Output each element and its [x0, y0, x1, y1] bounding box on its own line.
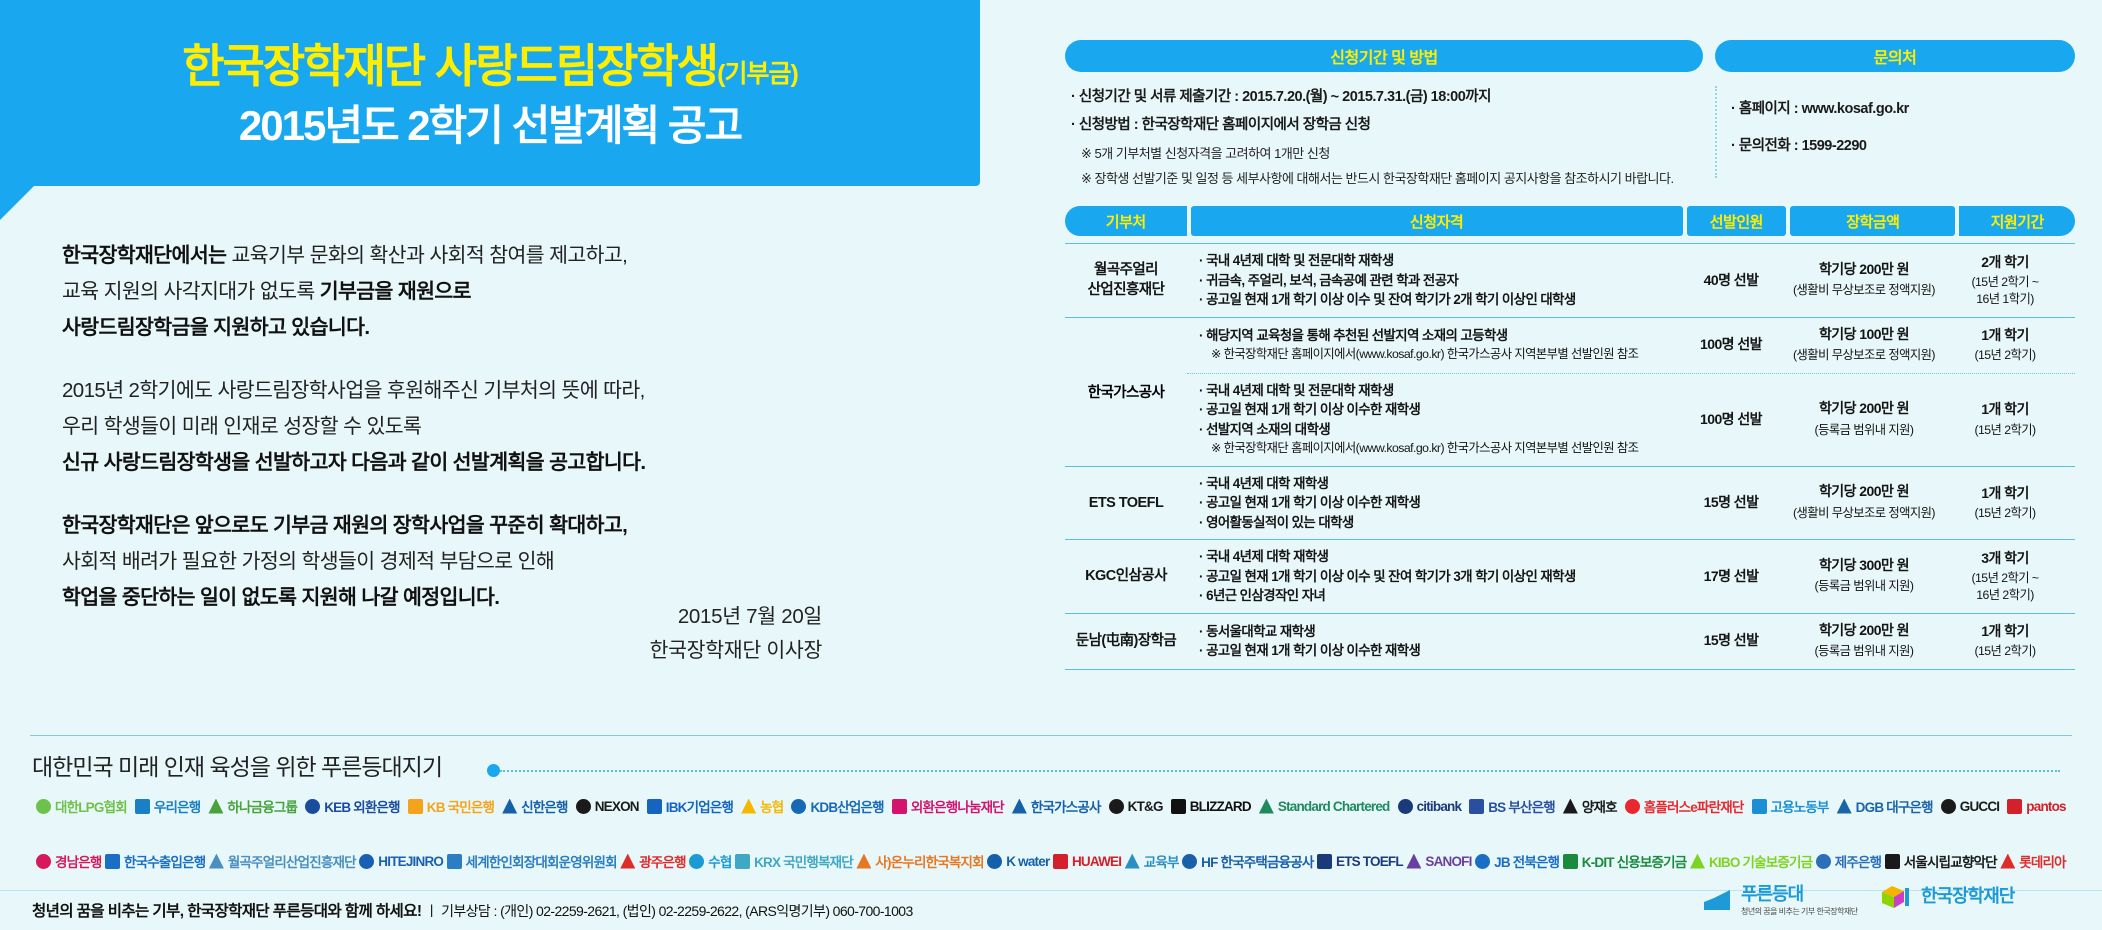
cell-period: 1개 학기 (15년 2학기) — [1947, 477, 2063, 530]
contact-info-box: 문의처 · 홈페이지 : www.kosaf.go.kr · 문의전화 : 15… — [1715, 40, 2075, 192]
cell-period: 1개 학기 (15년 2학기) — [1947, 393, 2063, 446]
intro-p1-lead: 한국장학재단에서는 — [62, 244, 231, 267]
cell-amount: 학기당 200만 원 (생활비 무상보조로 정액지원) — [1781, 253, 1947, 308]
sponsor-logo: KEB 외환은행 — [305, 796, 400, 816]
qual-note: ※ 한국장학재단 홈페이지에서(www.kosaf.go.kr) 한국가스공사 … — [1199, 345, 1681, 365]
cell-count: 100명 선발 — [1681, 403, 1781, 437]
sponsor-name: 사)온누리한국복지회 — [875, 851, 983, 871]
sponsor-name: 광주은행 — [639, 851, 685, 871]
poster-root: 한국장학재단 사랑드림장학생(기부금) 2015년도 2학기 선발계획 공고 한… — [0, 0, 2102, 930]
sponsor-name: 교육부 — [1144, 851, 1179, 871]
amount-note: (등록금 범위내 지원) — [1781, 577, 1947, 597]
sponsor-mark-icon — [1398, 799, 1413, 814]
sponsor-logo: K water — [987, 854, 1049, 869]
cell-period: 1개 학기 (15년 2학기) — [1947, 615, 2063, 668]
sponsor-name: KB 국민은행 — [427, 796, 494, 816]
sponsor-name: 우리은행 — [154, 796, 200, 816]
sponsor-mark-icon — [1752, 799, 1767, 814]
sponsor-logo: BLIZZARD — [1171, 799, 1251, 814]
qual-note: ※ 한국장학재단 홈페이지에서(www.kosaf.go.kr) 한국가스공사 … — [1199, 439, 1681, 459]
sponsor-name: 서울시립교향악단 — [1904, 851, 1997, 871]
sponsor-logo: citibank — [1398, 799, 1462, 814]
sponsor-logo: BS 부산은행 — [1469, 796, 1555, 816]
amount-note: (생활비 무상보조로 정액지원) — [1781, 504, 1947, 524]
sponsor-mark-icon — [647, 799, 662, 814]
apply-info-box: 신청기간 및 방법 · 신청기간 및 서류 제출기간 : 2015.7.20.(… — [1065, 40, 1703, 192]
sponsor-mark-icon — [359, 854, 374, 869]
amount-value: 학기당 200만 원 — [1819, 400, 1909, 416]
sponsor-name: 고용노동부 — [1771, 796, 1829, 816]
sponsor-logo: 한국가스공사 — [1012, 796, 1101, 816]
sponsor-name: KDB산업은행 — [810, 796, 883, 816]
intro-paragraph-1: 한국장학재단에서는 교육기부 문화의 확산과 사회적 참여를 제고하고, 교육 … — [62, 238, 822, 346]
brand-pureundae-sub: 청년의 꿈을 비추는 기부 한국장학재단 — [1741, 906, 1858, 917]
period-value: 1개 학기 — [1981, 401, 2029, 417]
sponsor-mark-icon — [1259, 799, 1274, 814]
intro-text-block: 한국장학재단에서는 교육기부 문화의 확산과 사회적 참여를 제고하고, 교육 … — [62, 238, 822, 616]
qual-item: · 동서울대학교 재학생 — [1199, 622, 1681, 642]
sponsor-mark-icon — [735, 854, 750, 869]
sponsor-logo: 월곡주얼리산업진흥재단 — [209, 851, 356, 871]
sponsor-logo: HF 한국주택금융공사 — [1182, 851, 1313, 871]
sponsor-logo: HITEJINRO — [359, 854, 443, 869]
footer-separator: ㅣ — [425, 903, 437, 919]
amount-note: (등록금 범위내 지원) — [1781, 421, 1947, 441]
table-row-group: 한국가스공사 · 해당지역 교육청을 통해 추천된 선발지역 소재의 고등학생 … — [1065, 318, 2075, 467]
qual-item: · 해당지역 교육청을 통해 추천된 선발지역 소재의 고등학생 — [1199, 326, 1681, 346]
sponsor-mark-icon — [447, 854, 462, 869]
sponsor-name: 대한LPG협회 — [55, 796, 127, 816]
sponsor-logo: K-DIT 신용보증기금 — [1563, 851, 1687, 871]
table-header-row: 기부처 신청자격 선발인원 장학금액 지원기간 — [1065, 206, 2075, 236]
table-body: 월곡주얼리산업진흥재단 · 국내 4년제 대학 및 전문대학 재학생 · 귀금속… — [1065, 243, 2075, 670]
sponsor-name: BS 부산은행 — [1488, 796, 1555, 816]
table-row: · 국내 4년제 대학 및 전문대학 재학생 · 공고일 현재 1개 학기 이상… — [1187, 374, 2075, 466]
sponsor-logo: NEXON — [576, 799, 639, 814]
contact-homepage[interactable]: · 홈페이지 : www.kosaf.go.kr — [1731, 98, 2069, 121]
cell-amount: 학기당 200만 원 (생활비 무상보조로 정액지원) — [1781, 475, 1947, 530]
sponsor-mark-icon — [1625, 799, 1640, 814]
sponsor-name: 한국가스공사 — [1031, 796, 1101, 816]
sponsor-name: 한국수출입은행 — [124, 851, 205, 871]
banner-title-main: 한국장학재단 사랑드림장학생(기부금) — [0, 30, 980, 96]
sponsor-mark-icon — [576, 799, 591, 814]
sponsor-mark-icon — [36, 854, 51, 869]
sponsor-mark-icon — [741, 799, 756, 814]
contact-info-body: · 홈페이지 : www.kosaf.go.kr · 문의전화 : 1599-2… — [1715, 72, 2075, 158]
brand-pureundae-label: 푸른등대 — [1741, 880, 1858, 906]
period-note: (15년 2학기) — [1947, 422, 2063, 439]
sponsor-name: DGB 대구은행 — [1856, 796, 1933, 816]
apply-line-1: · 신청방법 : 한국장학재단 홈페이지에서 장학금 신청 — [1071, 114, 1697, 137]
cell-amount: 학기당 300만 원 (등록금 범위내 지원) — [1781, 549, 1947, 604]
qual-item: · 선발지역 소재의 대학생 — [1199, 420, 1681, 440]
column-header-donor: 기부처 — [1065, 206, 1187, 236]
cell-qualification: · 해당지역 교육청을 통해 추천된 선발지역 소재의 고등학생 ※ 한국장학재… — [1187, 319, 1681, 372]
amount-note: (생활비 무상보조로 정액지원) — [1781, 281, 1947, 301]
sponsor-name: SANOFI — [1425, 854, 1471, 869]
sponsor-logo: KIBO 기술보증기금 — [1690, 851, 1812, 871]
sponsor-mark-icon — [502, 799, 517, 814]
sponsor-logo: HUAWEI — [1053, 854, 1121, 869]
intro-p1-line2b: 기부금을 재원으로 — [320, 280, 471, 303]
sponsor-logo: 광주은행 — [620, 851, 685, 871]
qual-item: · 공고일 현재 1개 학기 이상 이수한 재학생 — [1199, 493, 1681, 513]
sponsor-logo: 세계한인회장대회운영위원회 — [447, 851, 617, 871]
contact-info-header: 문의처 — [1715, 40, 2075, 72]
sponsor-name: 하나금융그룹 — [227, 796, 297, 816]
sponsor-logo: 대한LPG협회 — [36, 796, 127, 816]
donor-name-line2: 산업진흥재단 — [1088, 282, 1165, 298]
column-header-qualification: 신청자격 — [1191, 206, 1683, 236]
cell-donor: 한국가스공사 — [1065, 318, 1187, 466]
footer-slogan: 청년의 꿈을 비추는 기부, 한국장학재단 푸른등대와 함께 하세요! — [32, 903, 421, 920]
signature-org: 한국장학재단 이사장 — [62, 634, 822, 668]
sponsor-mark-icon — [135, 799, 150, 814]
sponsor-name: 농협 — [760, 796, 783, 816]
intro-p1-line3: 사랑드림장학금을 지원하고 있습니다. — [62, 316, 369, 339]
intro-p2-line3: 신규 사랑드림장학생을 선발하고자 다음과 같이 선발계획을 공고합니다. — [62, 451, 645, 474]
brand-kosaf: 한국장학재단 — [1880, 880, 2014, 910]
sponsor-logo: 제주은행 — [1816, 851, 1881, 871]
sponsor-logo: 교육부 — [1125, 851, 1179, 871]
sponsor-mark-icon — [689, 854, 704, 869]
sponsor-logo: 롯데리아 — [2000, 851, 2065, 871]
donor-name-line1: 월곡주얼리 — [1094, 262, 1158, 278]
intro-p3-line2: 사회적 배려가 필요한 가정의 학생들이 경제적 부담으로 인해 — [62, 550, 554, 573]
intro-p1-line2a: 교육 지원의 사각지대가 없도록 — [62, 280, 320, 303]
amount-value: 학기당 100만 원 — [1819, 326, 1909, 342]
kosaf-cube-icon — [1880, 880, 1914, 910]
cell-amount: 학기당 200만 원 (등록금 범위내 지원) — [1781, 392, 1947, 447]
brand-pureundae: 푸른등대 청년의 꿈을 비추는 기부 한국장학재단 — [1700, 880, 1858, 917]
sponsor-logo: KRX 국민행복재단 — [735, 851, 853, 871]
sponsor-logo: KB 국민은행 — [408, 796, 494, 816]
cell-qualification: · 국내 4년제 대학 재학생 · 공고일 현재 1개 학기 이상 이수한 재학… — [1187, 467, 1681, 540]
qual-item: · 공고일 현재 1개 학기 이상 이수 및 잔여 학기가 3개 학기 이상인 … — [1199, 567, 1681, 587]
cell-count: 17명 선발 — [1681, 560, 1781, 594]
cell-count: 15명 선발 — [1681, 624, 1781, 658]
sponsor-name: KEB 외환은행 — [324, 796, 400, 816]
table-row: 월곡주얼리산업진흥재단 · 국내 4년제 대학 및 전문대학 재학생 · 귀금속… — [1065, 243, 2075, 318]
sponsor-logo: 양재호 — [1563, 796, 1617, 816]
sponsor-name: HUAWEI — [1072, 854, 1121, 869]
sponsor-mark-icon — [620, 854, 635, 869]
scholarship-table: 기부처 신청자격 선발인원 장학금액 지원기간 월곡주얼리산업진흥재단 · 국내… — [1065, 206, 2075, 670]
sponsor-logo: 서울시립교향악단 — [1885, 851, 1997, 871]
sponsor-mark-icon — [1816, 854, 1831, 869]
intro-paragraph-2: 2015년 2학기에도 사랑드림장학사업을 후원해주신 기부처의 뜻에 따라, … — [62, 373, 822, 481]
period-note: (15년 2학기) — [1947, 505, 2063, 522]
info-boxes: 신청기간 및 방법 · 신청기간 및 서류 제출기간 : 2015.7.20.(… — [1065, 40, 2075, 192]
sponsor-logo: IBK기업은행 — [647, 796, 733, 816]
sponsor-mark-icon — [1837, 799, 1852, 814]
cell-qualification: · 국내 4년제 대학 재학생 · 공고일 현재 1개 학기 이상 이수 및 잔… — [1187, 540, 1681, 613]
sponsor-mark-icon — [1317, 854, 1332, 869]
qual-item: · 귀금속, 주얼리, 보석, 금속공예 관련 학과 전공자 — [1199, 271, 1681, 291]
sponsor-logo: KDB산업은행 — [791, 796, 883, 816]
sponsor-logo: 하나금융그룹 — [208, 796, 297, 816]
period-value: 1개 학기 — [1981, 623, 2029, 639]
sponsor-mark-icon — [105, 854, 120, 869]
qual-item: · 국내 4년제 대학 및 전문대학 재학생 — [1199, 381, 1681, 401]
sponsor-mark-icon — [1053, 854, 1068, 869]
sponsor-logo: 외환은행나눔재단 — [892, 796, 1004, 816]
info-vertical-divider — [1715, 86, 1717, 178]
qual-item: · 6년근 인삼경작인 자녀 — [1199, 586, 1681, 606]
sponsor-name: 경남은행 — [55, 851, 101, 871]
sponsor-logo: DGB 대구은행 — [1837, 796, 1933, 816]
signature-block: 2015년 7월 20일 한국장학재단 이사장 — [62, 600, 822, 668]
sponsor-name: 월곡주얼리산업진흥재단 — [228, 851, 356, 871]
apply-info-header: 신청기간 및 방법 — [1065, 40, 1703, 72]
sponsor-logo: pantos — [2007, 799, 2065, 814]
table-row: ETS TOEFL · 국내 4년제 대학 재학생 · 공고일 현재 1개 학기… — [1065, 467, 2075, 541]
cell-donor: KGC인삼공사 — [1065, 559, 1187, 593]
amount-note: (생활비 무상보조로 정액지원) — [1781, 346, 1947, 366]
brand-kosaf-label: 한국장학재단 — [1921, 882, 2014, 908]
sponsor-name: citibank — [1417, 799, 1462, 814]
sponsor-logo: 사)온누리한국복지회 — [856, 851, 983, 871]
intro-p1-rest: 교육기부 문화의 확산과 사회적 참여를 제고하고, — [231, 244, 627, 267]
sponsor-name: pantos — [2026, 799, 2065, 814]
qual-item: · 공고일 현재 1개 학기 이상 이수한 재학생 — [1199, 400, 1681, 420]
sponsor-logo: 홈플러스e파란재단 — [1625, 796, 1744, 816]
period-note: (15년 2학기 ~16년 1학기) — [1947, 274, 2063, 308]
sponsor-logo: GUCCI — [1941, 799, 2000, 814]
sub-rows-container: · 해당지역 교육청을 통해 추천된 선발지역 소재의 고등학생 ※ 한국장학재… — [1187, 318, 2075, 466]
amount-value: 학기당 200만 원 — [1819, 483, 1909, 499]
cell-qualification: · 국내 4년제 대학 및 전문대학 재학생 · 공고일 현재 1개 학기 이상… — [1187, 374, 1681, 466]
cell-period: 2개 학기 (15년 2학기 ~16년 1학기) — [1947, 246, 2063, 316]
qual-item: · 공고일 현재 1개 학기 이상 이수한 재학생 — [1199, 641, 1681, 661]
cell-period: 3개 학기 (15년 2학기 ~16년 2학기) — [1947, 542, 2063, 612]
sponsor-logo-row-2: 경남은행한국수출입은행월곡주얼리산업진흥재단HITEJINRO세계한인회장대회운… — [20, 841, 2082, 881]
sponsor-logo: 한국수출입은행 — [105, 851, 205, 871]
sponsor-mark-icon — [2007, 799, 2022, 814]
apply-note-0: ※ 5개 기부처별 신청자격을 고려하여 1개만 신청 — [1071, 142, 1697, 165]
sponsor-mark-icon — [1885, 854, 1900, 869]
sponsor-name: 롯데리아 — [2019, 851, 2065, 871]
cell-qualification: · 동서울대학교 재학생 · 공고일 현재 1개 학기 이상 이수한 재학생 — [1187, 615, 1681, 668]
intro-p2-line2: 우리 학생들이 미래 인재로 성장할 수 있도록 — [62, 415, 421, 438]
contact-phone: · 문의전화 : 1599-2290 — [1731, 135, 2069, 158]
sponsor-logo: 신한은행 — [502, 796, 567, 816]
sponsor-name: 양재호 — [1582, 796, 1617, 816]
sponsor-logo: 농협 — [741, 796, 783, 816]
sponsor-logo: Standard Chartered — [1259, 799, 1390, 814]
sponsor-mark-icon — [1475, 854, 1490, 869]
column-header-count: 선발인원 — [1687, 206, 1787, 236]
sponsor-mark-icon — [305, 799, 320, 814]
sponsor-mark-icon — [1109, 799, 1124, 814]
qual-item: · 국내 4년제 대학 재학생 — [1199, 547, 1681, 567]
sponsor-mark-icon — [1012, 799, 1027, 814]
amount-value: 학기당 300만 원 — [1819, 557, 1909, 573]
amount-value: 학기당 200만 원 — [1819, 622, 1909, 638]
sponsor-name: NEXON — [595, 799, 639, 814]
banner-title-superscript: (기부금) — [717, 60, 798, 88]
sponsor-mark-icon — [1469, 799, 1484, 814]
sponsor-logo: JB 전북은행 — [1475, 851, 1559, 871]
banner-title-text: 한국장학재단 사랑드림장학생 — [182, 40, 717, 92]
sponsor-name: HF 한국주택금융공사 — [1201, 851, 1313, 871]
intro-p3-line1: 한국장학재단은 앞으로도 기부금 재원의 장학사업을 꾸준히 확대하고, — [62, 514, 627, 537]
sponsor-mark-icon — [36, 799, 51, 814]
cell-donor: ETS TOEFL — [1065, 486, 1187, 520]
cell-donor: 둔남(屯南)장학금 — [1065, 624, 1187, 658]
sponsor-name: 제주은행 — [1835, 851, 1881, 871]
sponsor-name: KRX 국민행복재단 — [754, 851, 853, 871]
intro-p2-line1: 2015년 2학기에도 사랑드림장학사업을 후원해주신 기부처의 뜻에 따라, — [62, 379, 645, 402]
sponsor-dot-marker — [487, 764, 500, 777]
cell-period: 1개 학기 (15년 2학기) — [1947, 319, 2063, 372]
sponsor-mark-icon — [1406, 854, 1421, 869]
banner-subtitle: 2015년도 2학기 선발계획 공고 — [0, 92, 980, 153]
sponsor-logo: 수협 — [689, 851, 731, 871]
sponsor-logo: 우리은행 — [135, 796, 200, 816]
sponsor-mark-icon — [1563, 799, 1578, 814]
sponsor-name: K-DIT 신용보증기금 — [1582, 851, 1687, 871]
sponsor-name: Standard Chartered — [1278, 799, 1390, 814]
sponsor-mark-icon — [1171, 799, 1186, 814]
amount-note: (등록금 범위내 지원) — [1781, 642, 1947, 662]
sponsor-name: KT&G — [1128, 799, 1163, 814]
sponsor-mark-icon — [1182, 854, 1197, 869]
table-row: · 해당지역 교육청을 통해 추천된 선발지역 소재의 고등학생 ※ 한국장학재… — [1187, 318, 2075, 374]
period-value: 1개 학기 — [1981, 485, 2029, 501]
sponsor-logo: KT&G — [1109, 799, 1163, 814]
sponsor-section-title: 대한민국 미래 인재 육성을 위한 푸른등대지기 — [32, 748, 442, 782]
sponsor-mark-icon — [208, 799, 223, 814]
cell-amount: 학기당 200만 원 (등록금 범위내 지원) — [1781, 614, 1947, 669]
cell-amount: 학기당 100만 원 (생활비 무상보조로 정액지원) — [1781, 318, 1947, 373]
table-row: KGC인삼공사 · 국내 4년제 대학 재학생 · 공고일 현재 1개 학기 이… — [1065, 540, 2075, 614]
sponsor-mark-icon — [856, 854, 871, 869]
sponsor-name: 수협 — [708, 851, 731, 871]
qual-item: · 국내 4년제 대학 재학생 — [1199, 474, 1681, 494]
qual-item: · 국내 4년제 대학 및 전문대학 재학생 — [1199, 251, 1681, 271]
period-value: 2개 학기 — [1981, 254, 2029, 270]
apply-line-0: · 신청기간 및 서류 제출기간 : 2015.7.20.(월) ~ 2015.… — [1071, 86, 1697, 109]
sponsor-name: 세계한인회장대회운영위원회 — [466, 851, 617, 871]
sponsor-mark-icon — [892, 799, 907, 814]
sponsor-name: 신한은행 — [521, 796, 567, 816]
amount-value: 학기당 200만 원 — [1819, 261, 1909, 277]
sponsor-name: K water — [1006, 854, 1049, 869]
sponsor-logo: ETS TOEFL — [1317, 854, 1403, 869]
apply-note-1: ※ 장학생 선발기준 및 일정 등 세부사항에 대해서는 반드시 한국장학재단 … — [1071, 167, 1697, 190]
sponsor-name: 외환은행나눔재단 — [911, 796, 1004, 816]
cell-count: 40명 선발 — [1681, 264, 1781, 298]
period-value: 1개 학기 — [1981, 327, 2029, 343]
sponsor-logo: SANOFI — [1406, 854, 1471, 869]
qual-item: · 영어활동실적이 있는 대학생 — [1199, 513, 1681, 533]
column-header-period: 지원기간 — [1959, 206, 2075, 236]
sponsor-mark-icon — [791, 799, 806, 814]
sponsor-name: GUCCI — [1960, 799, 2000, 814]
column-header-amount: 장학금액 — [1790, 206, 1955, 236]
sponsor-name: ETS TOEFL — [1336, 854, 1403, 869]
sponsor-name: 홈플러스e파란재단 — [1644, 796, 1744, 816]
sponsor-mark-icon — [209, 854, 224, 869]
header-banner: 한국장학재단 사랑드림장학생(기부금) 2015년도 2학기 선발계획 공고 — [0, 0, 980, 186]
period-note: (15년 2학기) — [1947, 347, 2063, 364]
sponsor-name: BLIZZARD — [1190, 799, 1251, 814]
qual-item: · 공고일 현재 1개 학기 이상 이수 및 잔여 학기가 2개 학기 이상인 … — [1199, 290, 1681, 310]
sponsor-name: KIBO 기술보증기금 — [1709, 851, 1812, 871]
banner-tail-shape — [0, 186, 34, 220]
apply-info-body: · 신청기간 및 서류 제출기간 : 2015.7.20.(월) ~ 2015.… — [1065, 72, 1703, 190]
sponsor-section-divider — [30, 735, 2072, 736]
footer-contact: 기부상담 : (개인) 02-2259-2621, (법인) 02-2259-2… — [441, 903, 913, 919]
sponsor-mark-icon — [1563, 854, 1578, 869]
sponsor-mark-icon — [1941, 799, 1956, 814]
sponsor-mark-icon — [1125, 854, 1140, 869]
sponsor-name: HITEJINRO — [378, 854, 443, 869]
cell-count: 15명 선발 — [1681, 486, 1781, 520]
period-note: (15년 2학기) — [1947, 643, 2063, 660]
sponsor-mark-icon — [2000, 854, 2015, 869]
table-row: 둔남(屯南)장학금 · 동서울대학교 재학생 · 공고일 현재 1개 학기 이상… — [1065, 614, 2075, 670]
period-value: 3개 학기 — [1981, 550, 2029, 566]
signature-date: 2015년 7월 20일 — [62, 600, 822, 634]
sponsor-logo: 고용노동부 — [1752, 796, 1829, 816]
sponsor-logo: 경남은행 — [36, 851, 101, 871]
sponsor-name: JB 전북은행 — [1494, 851, 1559, 871]
cell-qualification: · 국내 4년제 대학 및 전문대학 재학생 · 귀금속, 주얼리, 보석, 금… — [1187, 244, 1681, 317]
sponsor-name: IBK기업은행 — [666, 796, 733, 816]
sponsor-mark-icon — [987, 854, 1002, 869]
sponsor-dotted-line — [500, 770, 2060, 772]
lighthouse-icon — [1700, 884, 1734, 914]
cell-donor: 월곡주얼리산업진흥재단 — [1065, 253, 1187, 307]
cell-count: 100명 선발 — [1681, 328, 1781, 362]
sponsor-logo-row-1: 대한LPG협회우리은행하나금융그룹KEB 외환은행KB 국민은행신한은행NEXO… — [20, 786, 2082, 826]
period-note: (15년 2학기 ~16년 2학기) — [1947, 570, 2063, 604]
footer-text: 청년의 꿈을 비추는 기부, 한국장학재단 푸른등대와 함께 하세요! ㅣ 기부… — [32, 899, 913, 921]
sponsor-mark-icon — [1690, 854, 1705, 869]
sponsor-mark-icon — [408, 799, 423, 814]
